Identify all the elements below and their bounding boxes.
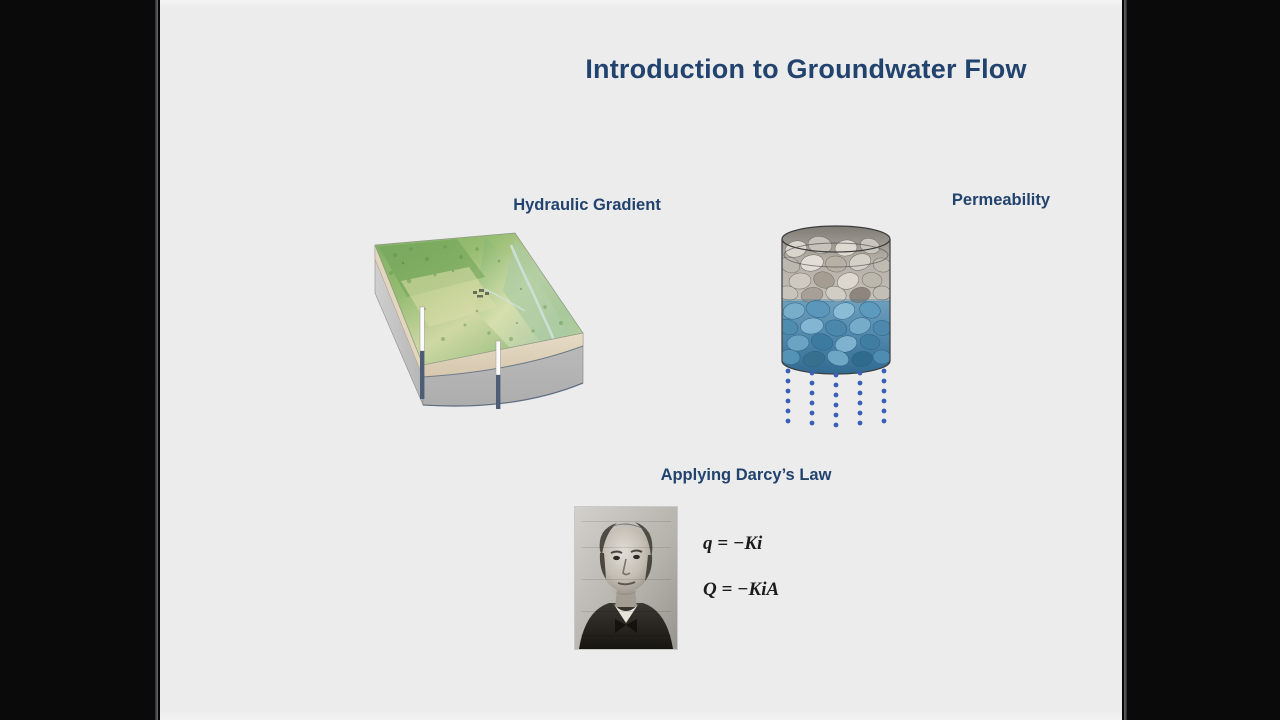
henry-darcy-portrait bbox=[574, 506, 678, 650]
letterbox-edge-right bbox=[1124, 0, 1127, 720]
well-right bbox=[496, 341, 500, 409]
slide-canvas: Introduction to Groundwater Flow Hydraul… bbox=[160, 0, 1122, 720]
letterbox-edge-left bbox=[155, 0, 158, 720]
equation-volumetric-flow: Q = −KiA bbox=[703, 580, 923, 599]
section-heading-permeability: Permeability bbox=[836, 191, 1122, 210]
well-left bbox=[420, 307, 424, 399]
darcy-equations: q = −Ki Q = −KiA bbox=[703, 534, 923, 599]
water-drip-columns bbox=[786, 369, 887, 428]
page-title-text: Introduction to Groundwater Flow bbox=[585, 54, 1026, 85]
figure-permeability-cylinder bbox=[770, 215, 910, 405]
screen: Introduction to Groundwater Flow Hydraul… bbox=[0, 0, 1280, 720]
section-heading-hydraulic-gradient: Hydraulic Gradient bbox=[422, 196, 752, 215]
page-title: Introduction to Groundwater Flow bbox=[160, 54, 1122, 85]
section-heading-darcys-law: Applying Darcy’s Law bbox=[581, 466, 911, 485]
figure-terrain-block-diagram bbox=[365, 215, 595, 395]
letterbox-right bbox=[1124, 0, 1280, 720]
equation-specific-discharge: q = −Ki bbox=[703, 534, 923, 553]
letterbox-left bbox=[0, 0, 158, 720]
